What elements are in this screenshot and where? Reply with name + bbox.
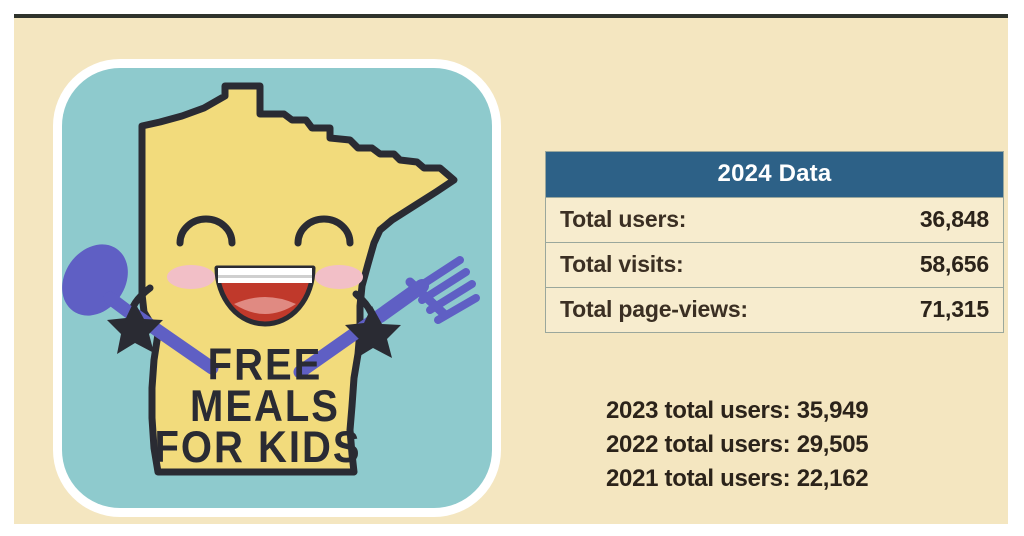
table-row: Total page-views: 71,315 [546,287,1003,332]
row-value: 36,848 [920,206,989,233]
prior-year-line: 2023 total users: 35,949 [606,394,1006,428]
prior-years-block: 2023 total users: 35,949 2022 total user… [606,394,1006,496]
left-blush [167,265,215,289]
table-row: Total users: 36,848 [546,197,1003,242]
row-value: 71,315 [920,296,989,323]
row-label: Total visits: [560,251,684,278]
data-table: 2024 Data Total users: 36,848 Total visi… [545,151,1004,333]
row-value: 58,656 [920,251,989,278]
table-row: Total visits: 58,656 [546,242,1003,287]
content-panel: FREE MEALS FOR KIDS 2024 Data Total user… [14,14,1008,524]
table-title: 2024 Data [546,152,1003,197]
logo-line-3: FOR KIDS [154,422,361,472]
logo-illustration: FREE MEALS FOR KIDS [62,68,492,508]
row-label: Total page-views: [560,296,748,323]
free-meals-for-kids-logo-card: FREE MEALS FOR KIDS [62,68,492,508]
prior-year-line: 2021 total users: 22,162 [606,462,1006,496]
row-label: Total users: [560,206,686,233]
right-blush [315,265,363,289]
prior-year-line: 2022 total users: 29,505 [606,428,1006,462]
slide-root: FREE MEALS FOR KIDS 2024 Data Total user… [0,0,1024,536]
